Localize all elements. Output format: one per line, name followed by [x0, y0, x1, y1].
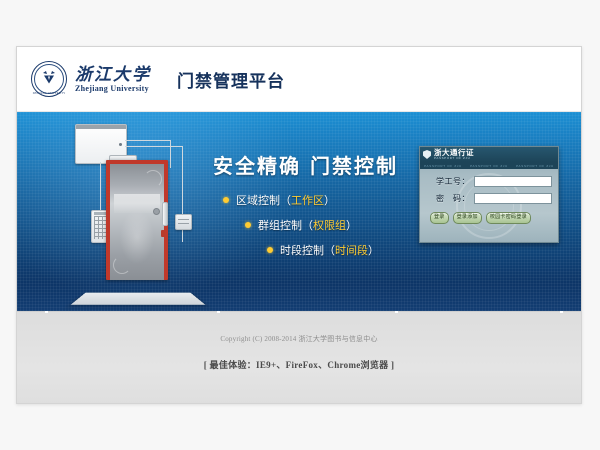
feature-label-suffix: ）	[368, 242, 379, 258]
notch-mark	[560, 311, 563, 313]
login-panel-heading: 浙大通行证 PASSPORT OF ZJU	[434, 149, 474, 161]
wire-to-keypad	[100, 162, 101, 212]
wire-to-door-closer	[170, 140, 171, 168]
door-frame	[106, 160, 168, 280]
door-decor-swirl-bottom	[113, 256, 131, 274]
watermark-text: PASSPORT OF ZJU	[470, 164, 508, 168]
login-panel-titlebar: 浙大通行证 PASSPORT OF ZJU	[420, 147, 558, 162]
banner-slogan: 安全精确 门禁控制	[213, 150, 398, 179]
login-panel-subtitle: PASSPORT OF ZJU	[434, 157, 474, 160]
wordmark-english: Zhejiang University	[75, 85, 151, 93]
access-control-door-illustration	[53, 122, 213, 307]
door-decor-swirl-top	[144, 170, 162, 188]
student-id-input[interactable]	[474, 176, 552, 187]
page-title: 门禁管理平台	[177, 67, 285, 92]
floor-platform	[71, 293, 206, 305]
feature-label-prefix: 时段控制（	[280, 242, 335, 258]
login-add-button[interactable]: 登录添加	[453, 212, 482, 224]
login-panel-title: 浙大通行证	[434, 149, 474, 157]
seal-bird-emblem-icon	[41, 70, 57, 86]
login-form: 学工号： 密 码： 登录 登录添加 校园卡密码登录	[420, 169, 558, 224]
feature-label-accent: 权限组	[313, 217, 346, 233]
feature-label-accent: 时间段	[335, 242, 368, 258]
login-button[interactable]: 登录	[430, 212, 449, 224]
door-leaf	[110, 164, 164, 280]
wordmark-chinese: 浙江大学	[75, 66, 151, 83]
feature-label-accent: 工作区	[291, 192, 324, 208]
door-knob-icon	[153, 208, 160, 215]
notch-mark	[45, 311, 48, 313]
feature-label-suffix: ）	[324, 192, 335, 208]
feature-item-time-control: 时段控制（时间段）	[267, 242, 379, 258]
feature-item-group-control: 群组控制（权限组）	[245, 217, 379, 233]
university-logo[interactable]: ZHEJIANG UNIVERSITY 浙江大学 Zhejiang Univer…	[31, 61, 151, 97]
copyright-text: Copyright (C) 2008-2014 浙江大学图书与信息中心	[17, 334, 581, 344]
page-container: ZHEJIANG UNIVERSITY 浙江大学 Zhejiang Univer…	[16, 46, 582, 404]
bullet-dot-icon	[245, 222, 251, 228]
login-panel-watermark-strip: PASSPORT OF ZJU PASSPORT OF ZJU PASSPORT…	[420, 162, 558, 169]
university-wordmark: 浙江大学 Zhejiang University	[75, 66, 151, 93]
notch-mark	[217, 311, 220, 313]
seal-ring-text: ZHEJIANG UNIVERSITY	[32, 92, 66, 95]
card-reader-icon	[175, 214, 192, 230]
feature-label-suffix: ）	[346, 217, 357, 233]
browser-compatibility-note: [ 最佳体验：IE9+、FireFox、Chrome浏览器 ]	[17, 358, 581, 371]
password-input[interactable]	[474, 193, 552, 204]
hero-banner: 安全精确 门禁控制 区域控制（工作区） 群组控制（权限组） 时段控制（时间段） …	[17, 112, 581, 311]
wire-horizontal-upper	[125, 140, 171, 141]
feature-label-prefix: 群组控制（	[258, 217, 313, 233]
form-row-password: 密 码：	[426, 193, 552, 204]
site-header: ZHEJIANG UNIVERSITY 浙江大学 Zhejiang Univer…	[17, 47, 581, 112]
door-lock-icon	[161, 230, 165, 237]
watermark-text: PASSPORT OF ZJU	[516, 164, 554, 168]
form-row-student-id: 学工号：	[426, 176, 552, 187]
watermark-text: PASSPORT OF ZJU	[424, 164, 462, 168]
login-panel: 浙大通行证 PASSPORT OF ZJU PASSPORT OF ZJU PA…	[419, 146, 559, 243]
banner-feature-list: 区域控制（工作区） 群组控制（权限组） 时段控制（时间段）	[223, 192, 379, 267]
door-handle-icon	[162, 202, 168, 226]
site-footer: Copyright (C) 2008-2014 浙江大学图书与信息中心 [ 最佳…	[17, 311, 581, 404]
university-seal-icon: ZHEJIANG UNIVERSITY	[31, 61, 67, 97]
campus-card-login-button[interactable]: 校园卡密码登录	[486, 212, 531, 224]
wire-horizontal-lower	[125, 146, 183, 147]
password-label: 密 码：	[426, 193, 474, 204]
feature-item-area-control: 区域控制（工作区）	[223, 192, 379, 208]
controller-led-icon	[119, 143, 122, 146]
shield-icon	[423, 150, 431, 159]
student-id-label: 学工号：	[426, 176, 474, 187]
bullet-dot-icon	[223, 197, 229, 203]
login-button-group: 登录 登录添加 校园卡密码登录	[426, 210, 552, 224]
bullet-dot-icon	[267, 247, 273, 253]
feature-label-prefix: 区域控制（	[236, 192, 291, 208]
notch-mark	[395, 311, 398, 313]
footer-top-notches	[17, 311, 581, 313]
